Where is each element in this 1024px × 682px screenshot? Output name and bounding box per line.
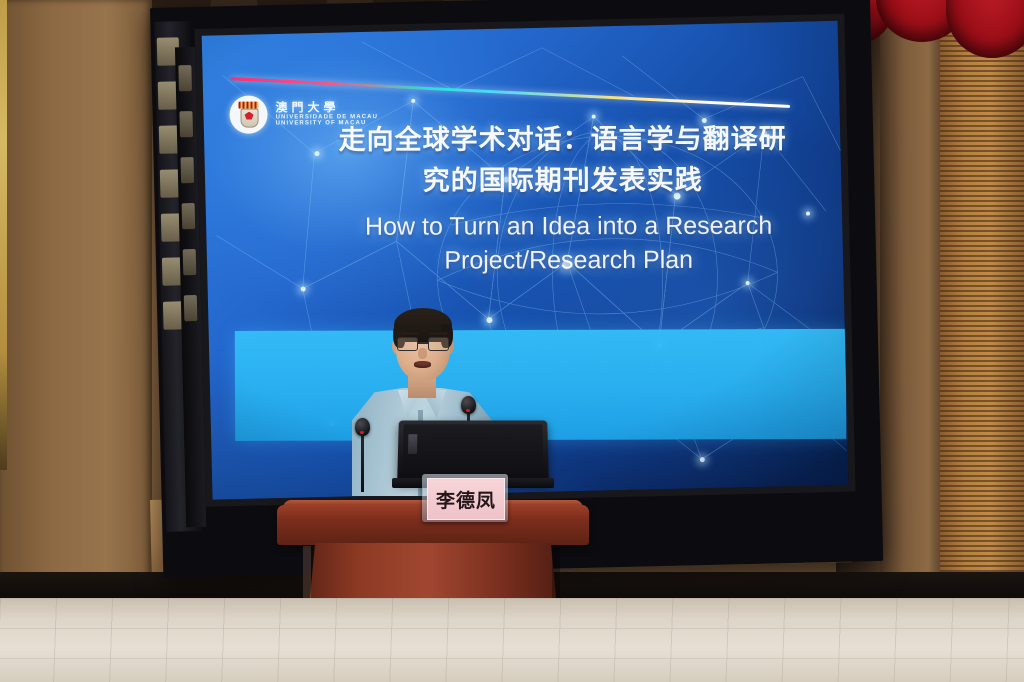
- speaker-grille: [178, 65, 192, 91]
- speaker-grille: [182, 203, 196, 229]
- lecture-hall-photo: 澳門大學 UNIVERSIDADE DE MACAU UNIVERSITY OF…: [0, 0, 1024, 682]
- glasses-lens-right: [428, 337, 449, 351]
- speaker-grille: [179, 111, 193, 137]
- floor-tile-grid: [0, 598, 1024, 682]
- curtain-swag: [946, 0, 1024, 58]
- wall-panel-right: [880, 0, 940, 640]
- presenter-eyebrow-left: [400, 332, 418, 335]
- laptop-brand-logo: [408, 434, 417, 454]
- glasses-lens-left: [397, 337, 418, 351]
- speaker-grille: [181, 157, 195, 183]
- speaker-nameplate: 李德凤: [427, 478, 505, 520]
- presenter-eyebrow-right: [430, 332, 448, 335]
- presenter-mouth: [414, 361, 431, 368]
- speaker-grille: [184, 295, 198, 321]
- projection-screen: 澳門大學 UNIVERSIDADE DE MACAU UNIVERSITY OF…: [150, 0, 883, 578]
- wall-panel-left: [0, 0, 152, 600]
- presenter-laptop[interactable]: [397, 420, 549, 482]
- presenter-nose: [418, 348, 427, 359]
- microphone-indicator-left: [360, 431, 364, 434]
- gooseneck-microphone-left-stem: [361, 430, 364, 492]
- laptop-screen: [402, 424, 543, 474]
- glasses-bridge: [418, 342, 428, 344]
- microphone-indicator-right: [466, 409, 470, 412]
- wall-edge-highlight-left: [0, 0, 7, 470]
- speaker-grille: [183, 249, 197, 275]
- wall-slat-panel-right: [940, 0, 1024, 645]
